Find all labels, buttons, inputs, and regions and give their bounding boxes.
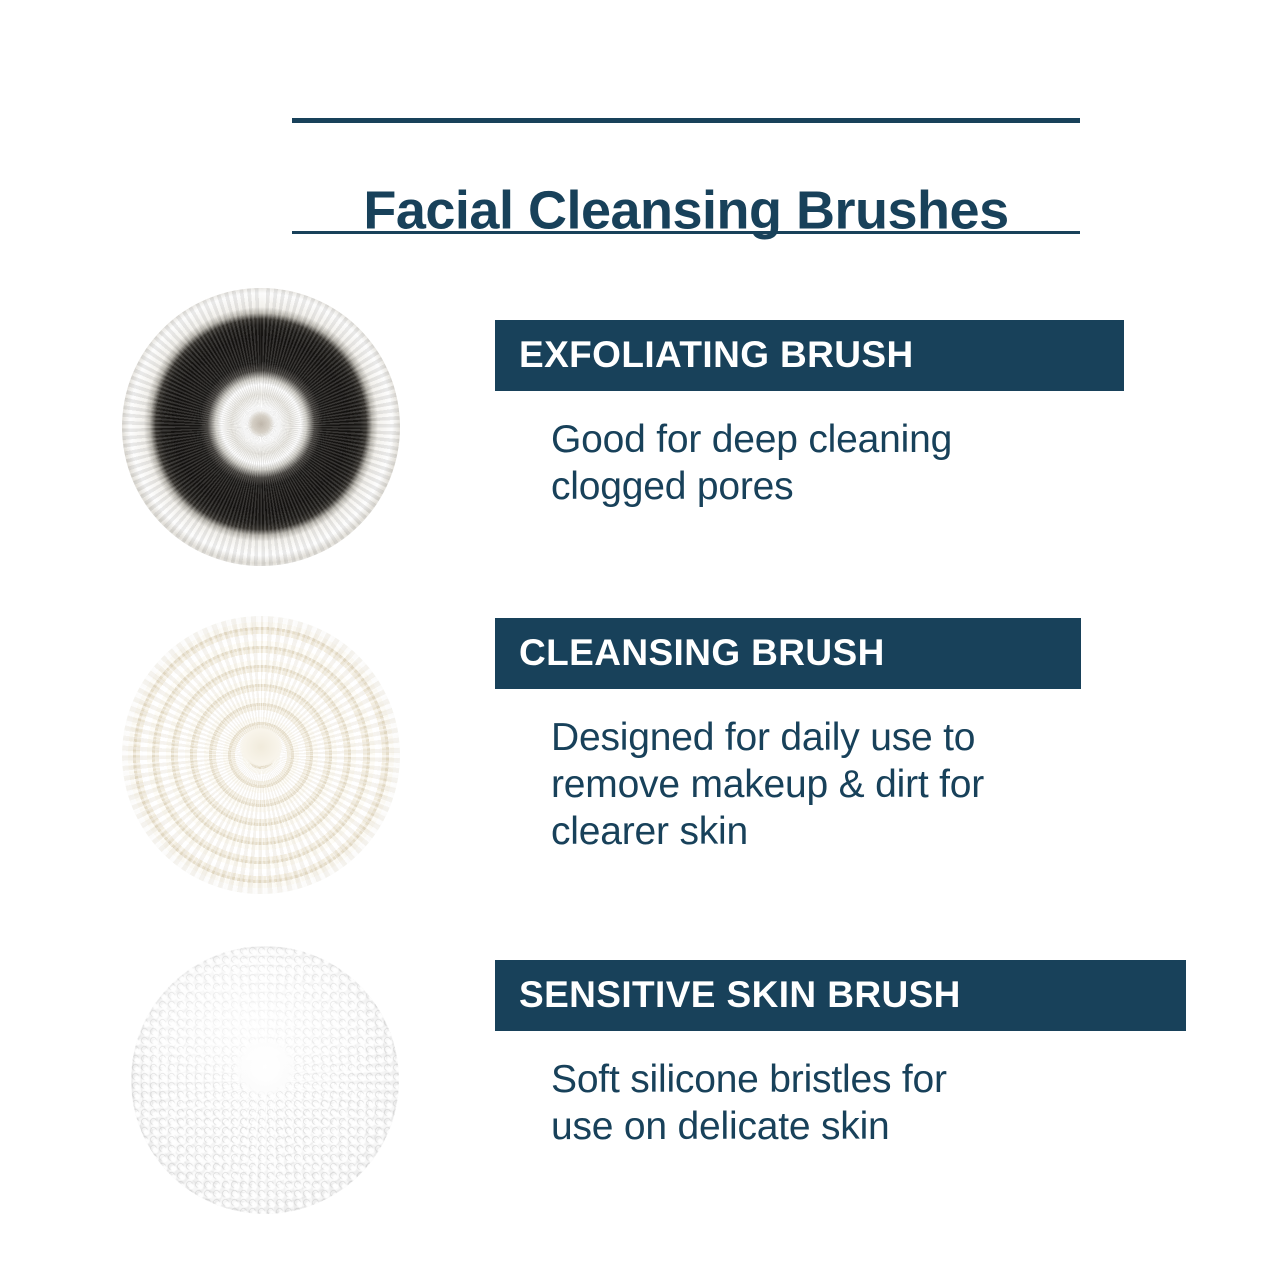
sensitive-skin-brush-image [131,946,399,1214]
brush-center-hub [240,728,282,766]
product-section-cleansing: CLEANSING BRUSH Designed for daily use t… [0,616,1280,926]
description-line: clearer skin [551,809,1155,856]
cleansing-text-column: CLEANSING BRUSH Designed for daily use t… [495,618,1155,855]
title-rule-top [292,118,1080,123]
cleansing-brush-head-icon [122,616,400,894]
section-label-exfoliating: EXFOLIATING BRUSH [495,320,1124,391]
product-section-sensitive-skin: SENSITIVE SKIN BRUSH Soft silicone brist… [0,946,1280,1246]
exfoliating-brush-head-icon [122,288,400,566]
description-line: clogged pores [551,464,1155,511]
brush-sheen [131,946,399,1214]
product-section-exfoliating: EXFOLIATING BRUSH Good for deep cleaning… [0,288,1280,588]
brush-center-hub [248,411,274,437]
exfoliating-text-column: EXFOLIATING BRUSH Good for deep cleaning… [495,320,1155,511]
title-rule-bottom [292,231,1080,234]
exfoliating-brush-image [122,288,400,566]
description-line: remove makeup & dirt for [551,762,1155,809]
title-block: Facial Cleansing Brushes [292,118,1080,234]
section-label-cleansing: CLEANSING BRUSH [495,618,1081,689]
section-label-sensitive-skin: SENSITIVE SKIN BRUSH [495,960,1186,1031]
description-line: Designed for daily use to [551,715,1155,762]
section-description-sensitive-skin: Soft silicone bristles for use on delica… [495,1057,1195,1151]
sensitive-skin-brush-head-icon [131,946,399,1214]
section-description-exfoliating: Good for deep cleaning clogged pores [495,417,1155,511]
description-line: Soft silicone bristles for [551,1057,1195,1104]
sensitive-skin-text-column: SENSITIVE SKIN BRUSH Soft silicone brist… [495,960,1195,1151]
description-line: use on delicate skin [551,1104,1195,1151]
description-line: Good for deep cleaning [551,417,1155,464]
section-description-cleansing: Designed for daily use to remove makeup … [495,715,1155,855]
cleansing-brush-image [122,616,400,894]
